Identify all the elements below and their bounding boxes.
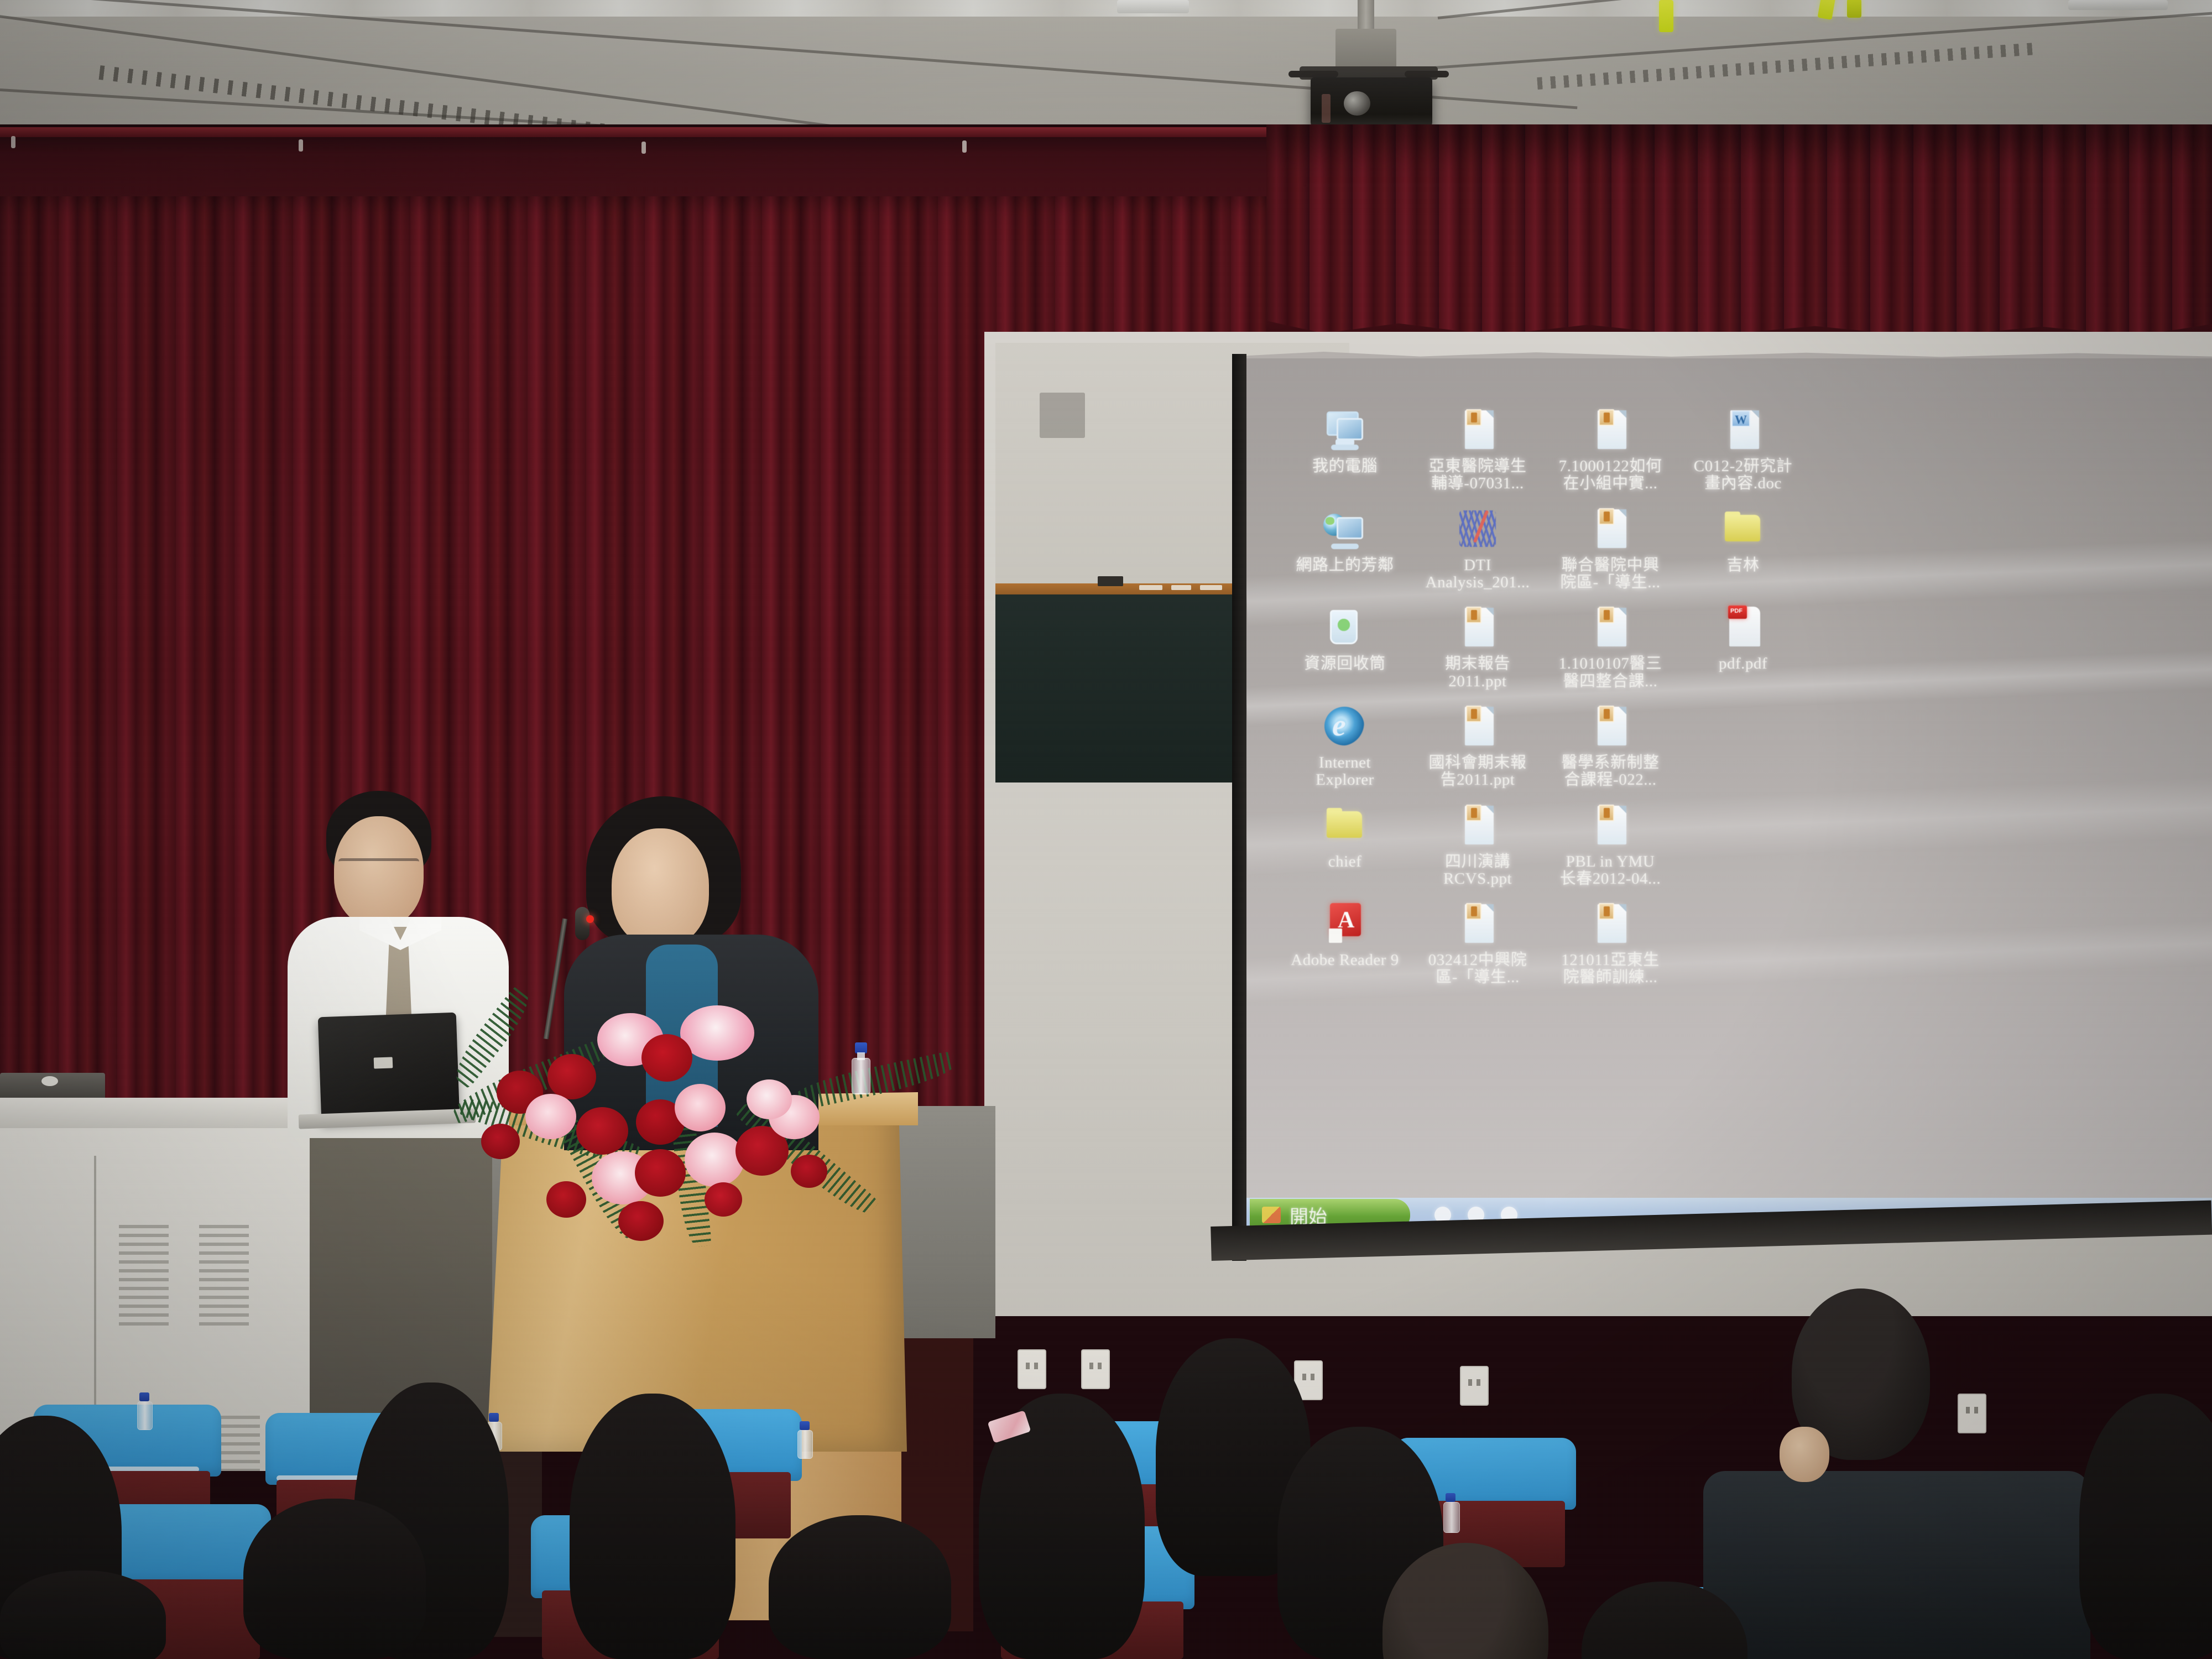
desktop-icon-ppt-pbl-ymu[interactable]: PBL in YMU长春2012-04... — [1544, 802, 1677, 888]
projector-vent — [1322, 94, 1331, 123]
blank-icon — [1719, 703, 1767, 751]
bottle-cap-icon — [855, 1042, 867, 1053]
curtain-hook-4 — [962, 140, 967, 153]
desktop-icon-label: InternetExplorer — [1281, 754, 1408, 789]
rose-bud-2 — [618, 1201, 664, 1241]
curtain-top-hem — [0, 127, 1288, 137]
bottle-body — [137, 1401, 153, 1430]
wall-socket-2[interactable] — [1081, 1349, 1110, 1389]
network-neighborhood-icon — [1321, 506, 1369, 554]
internet-explorer-icon: e — [1321, 703, 1369, 751]
projector-mount-rod — [1358, 0, 1374, 32]
av-cabinet-vent-right — [199, 1225, 249, 1327]
carnation-pink-1 — [525, 1094, 576, 1139]
pdf-doc-icon — [1719, 604, 1767, 652]
ppt-doc-icon — [1587, 506, 1634, 554]
rose-red-8 — [481, 1124, 520, 1159]
desktop-icon-label: chief — [1281, 853, 1408, 870]
lecture-hall-photo: 我的電腦亞東醫院導生輔導-07031...7.1000122如何在小組中實...… — [0, 0, 2212, 1659]
gerbera-pink-1 — [675, 1084, 726, 1131]
desktop-icon-ppt-new-curriculum[interactable]: 醫學系新制整合課程-022... — [1544, 703, 1677, 789]
desktop-icon-label: 國科會期末報告2011.ppt — [1414, 754, 1541, 789]
desktop-icon-ppt-zhongxing[interactable]: 聯合醫院中興院區-「導生... — [1544, 506, 1677, 592]
bottle-cap-icon — [139, 1392, 149, 1401]
ceiling-fixture-2 — [2068, 0, 2168, 10]
carnation-pink-3 — [747, 1079, 792, 1119]
desktop-icon-ppt-integrated-course[interactable]: 1.1010107醫三醫四整合課... — [1544, 604, 1677, 690]
blackboard-eraser — [1098, 576, 1123, 586]
desktop-icon-my-computer[interactable]: 我的電腦 — [1279, 407, 1411, 493]
ppt-doc-icon — [1454, 604, 1501, 652]
projection-screen-left-rail — [1232, 354, 1246, 1261]
bottle-cap-icon — [800, 1421, 810, 1430]
desktop-icon-dti-analysis[interactable]: DTIAnalysis_201... — [1411, 506, 1544, 592]
desktop-icon-label: 期末報告2011.ppt — [1414, 655, 1541, 690]
ppt-doc-icon — [1587, 407, 1634, 455]
projector-arm-right — [1405, 71, 1449, 77]
desktop-icon-ppt-032412[interactable]: 032412中興院區-「導生... — [1411, 901, 1544, 987]
dti-analysis-icon — [1454, 506, 1501, 554]
desktop-icon-blank-b — [1677, 802, 1809, 888]
desktop-icon-label: 7.1000122如何在小組中實... — [1547, 458, 1674, 493]
ppt-doc-icon — [1454, 407, 1501, 455]
desktop-icon-internet-explorer[interactable]: eInternetExplorer — [1279, 703, 1411, 789]
desktop-icon-row: eInternetExplorer國科會期末報告2011.ppt醫學系新制整合課… — [1279, 703, 1832, 802]
desktop-icon-label: 聯合醫院中興院區-「導生... — [1547, 557, 1674, 592]
desktop-icon-label: C012-2研究計畫內容.doc — [1679, 458, 1807, 493]
projector-arm-left — [1288, 71, 1338, 77]
desktop-icon-word-c012[interactable]: WC012-2研究計畫內容.doc — [1677, 407, 1809, 493]
desktop-icon-recycle-bin[interactable]: 資源回收筒 — [1279, 604, 1411, 690]
microphone-capsule — [575, 907, 589, 940]
ceiling-light-strip — [0, 0, 2212, 17]
curtain-hook-3 — [641, 142, 646, 154]
bottle-cap-icon — [489, 1413, 499, 1422]
desktop-icon-pdf-file[interactable]: pdf.pdf — [1677, 604, 1809, 690]
rose-red-2 — [547, 1054, 596, 1099]
av-equipment-knob[interactable] — [41, 1076, 58, 1086]
gerbera-pink-2 — [685, 1133, 744, 1187]
rose-red-6 — [635, 1149, 686, 1197]
curtain-hook-2 — [299, 139, 303, 152]
curtain-hook-1 — [11, 136, 15, 148]
desktop-icon-label: 資源回收筒 — [1281, 655, 1408, 672]
desktop-icon-ppt-nsc-report[interactable]: 國科會期末報告2011.ppt — [1411, 703, 1544, 789]
desktop-icon-ppt-yadong[interactable]: 亞東醫院導生輔導-07031... — [1411, 407, 1544, 493]
audience-head-3 — [570, 1394, 735, 1659]
desktop-icon-row: 網路上的芳鄰DTIAnalysis_201...聯合醫院中興院區-「導生...吉… — [1279, 506, 1832, 605]
audience-head-10 — [769, 1515, 951, 1659]
bottle-cap-icon — [1446, 1493, 1455, 1502]
word-doc-icon: W — [1719, 407, 1767, 455]
recycle-bin-icon — [1321, 604, 1369, 652]
desktop-icon-label: pdf.pdf — [1679, 655, 1807, 672]
chalk-1 — [1139, 585, 1162, 590]
desktop-icon-row: AAdobe Reader 9032412中興院區-「導生...121011亞東… — [1279, 901, 1832, 1000]
desktop-icon-label: 我的電腦 — [1281, 458, 1408, 475]
ppt-doc-icon — [1587, 802, 1634, 850]
desktop-icon-row: 資源回收筒期末報告2011.ppt1.1010107醫三醫四整合課...pdf.… — [1279, 604, 1832, 703]
chalk-2 — [1171, 585, 1191, 590]
projector-lens — [1344, 91, 1370, 116]
bottle-body — [797, 1430, 813, 1459]
desktop-icon-adobe-reader[interactable]: AAdobe Reader 9 — [1279, 901, 1411, 987]
yellow-tag-1 — [1659, 0, 1673, 32]
desktop-icon-network-neighborhood[interactable]: 網路上的芳鄰 — [1279, 506, 1411, 592]
desktop-icon-label: 121011亞東生院醫師訓練... — [1547, 952, 1674, 987]
desktop-icon-ppt-group[interactable]: 7.1000122如何在小組中實... — [1544, 407, 1677, 493]
desktop-icon-blank-c — [1677, 901, 1809, 987]
flower-arrangement — [459, 1001, 946, 1233]
desktop-icon-label: 吉林 — [1679, 557, 1807, 574]
wall-socket-4[interactable] — [1460, 1366, 1489, 1406]
desktop-icon-label: 醫學系新制整合課程-022... — [1547, 754, 1674, 789]
my-computer-icon — [1321, 407, 1369, 455]
wall-socket-5[interactable] — [1958, 1394, 1986, 1433]
rose-red-1 — [641, 1034, 692, 1082]
ppt-doc-icon — [1454, 901, 1501, 948]
stage-curtain-right — [1266, 124, 2212, 346]
desktop-icon-ppt-final-report[interactable]: 期末報告2011.ppt — [1411, 604, 1544, 690]
desktop-icon-label: DTIAnalysis_201... — [1414, 557, 1541, 592]
wall-mount-bracket — [1040, 393, 1085, 438]
adobe-reader-icon: A — [1321, 901, 1369, 948]
audience-hand-on-chin — [1780, 1427, 1829, 1482]
bottle-body — [852, 1058, 870, 1094]
projection-screen[interactable]: 我的電腦亞東醫院導生輔導-07031...7.1000122如何在小組中實...… — [1246, 358, 2212, 1232]
desktop-icon-label: Adobe Reader 9 — [1281, 952, 1408, 969]
audience-head-9 — [243, 1499, 426, 1659]
audience-head-8 — [2079, 1394, 2212, 1659]
ppt-doc-icon — [1587, 604, 1634, 652]
audience-head-13 — [0, 1571, 166, 1659]
av-cabinet-vent-left — [119, 1225, 169, 1327]
ppt-doc-icon — [1454, 802, 1501, 850]
desktop-icon-label: 1.1010107醫三醫四整合課... — [1547, 655, 1674, 690]
desktop-icon-row: chief四川演講RCVS.pptPBL in YMU长春2012-04... — [1279, 802, 1832, 901]
rose-bud-4 — [791, 1155, 827, 1188]
curtain-top-shadow — [0, 124, 1288, 213]
desktop-icon-ppt-sichuan-rcvs[interactable]: 四川演講RCVS.ppt — [1411, 802, 1544, 888]
desktop-icon-blank-a — [1677, 703, 1809, 789]
yellow-tag-3 — [1847, 0, 1861, 18]
ceiling-fixture-1 — [1117, 0, 1189, 13]
chalk-3 — [1200, 585, 1222, 590]
wall-socket-1[interactable] — [1018, 1349, 1046, 1389]
rose-bud-3 — [705, 1182, 742, 1217]
rose-bud-1 — [546, 1181, 586, 1218]
windows-flag-icon — [1262, 1207, 1281, 1223]
desktop-icon-label: PBL in YMU长春2012-04... — [1547, 853, 1674, 888]
desktop-icon-folder-chief[interactable]: chief — [1279, 802, 1411, 888]
audience-person-suit — [1703, 1471, 2090, 1659]
blank-icon — [1719, 901, 1767, 948]
desktop-icon-label: 032412中興院區-「導生... — [1414, 952, 1541, 987]
ppt-doc-icon — [1454, 703, 1501, 751]
microphone-power-led — [586, 915, 594, 923]
speaker-female-head — [612, 828, 709, 947]
folder-icon — [1321, 802, 1369, 850]
projector-mount-collar — [1335, 29, 1396, 72]
desktop-icon-grid[interactable]: 我的電腦亞東醫院導生輔導-07031...7.1000122如何在小組中實...… — [1279, 407, 1832, 1000]
laptop-brand-logo-icon — [374, 1057, 393, 1068]
ppt-doc-icon — [1587, 703, 1634, 751]
desktop-icon-label: 四川演講RCVS.ppt — [1414, 853, 1541, 888]
desktop-icon-label: 網路上的芳鄰 — [1281, 557, 1408, 574]
blank-icon — [1719, 802, 1767, 850]
speaker-male-glasses — [338, 858, 419, 873]
rose-red-4 — [576, 1107, 628, 1155]
desktop-icon-ppt-121011[interactable]: 121011亞東生院醫師訓練... — [1544, 901, 1677, 987]
desktop-icon-row: 我的電腦亞東醫院導生輔導-07031...7.1000122如何在小組中實...… — [1279, 407, 1832, 506]
bottle-body — [1443, 1502, 1460, 1533]
ppt-doc-icon — [1587, 901, 1634, 948]
folder-icon — [1719, 506, 1767, 554]
palm-frond-6 — [790, 1050, 958, 1112]
desktop-icon-folder-jilin[interactable]: 吉林 — [1677, 506, 1809, 592]
desktop-icon-label: 亞東醫院導生輔導-07031... — [1414, 458, 1541, 493]
